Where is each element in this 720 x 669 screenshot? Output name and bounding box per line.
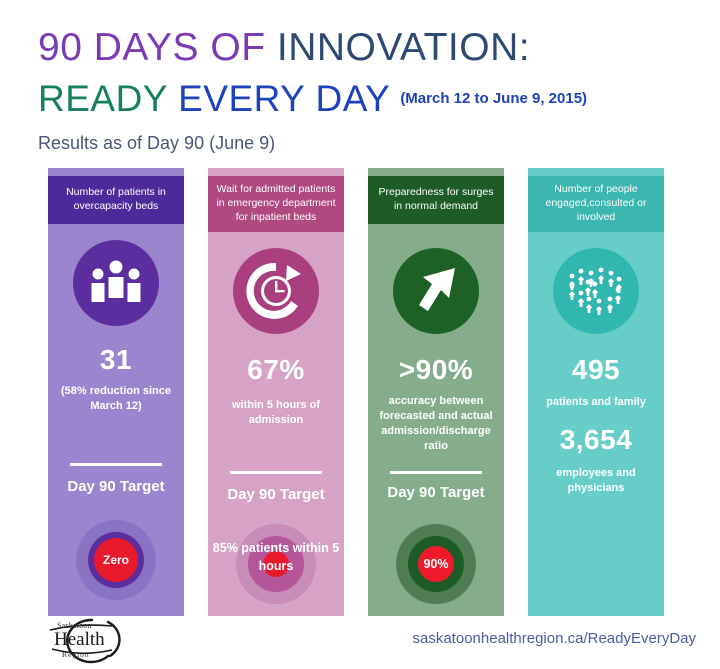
title-line-1: 90 DAYS OF INNOVATION: [38, 26, 530, 70]
target-rings: 90% [380, 508, 492, 616]
metric-value-label: accuracy between forecasted and actual a… [368, 394, 504, 453]
column-heading: Number of people engaged,consulted or in… [528, 176, 664, 232]
target-label: Day 90 Target [368, 484, 504, 501]
metric-value: 31 [48, 344, 184, 376]
target-label: Day 90 Target [208, 486, 344, 503]
metric-value-secondary: 3,654 [528, 424, 664, 456]
metric-column-ed-wait: Wait for admitted patients in emergency … [208, 168, 344, 616]
page-subtitle: Results as of Day 90 (June 9) [38, 133, 275, 154]
logo-line-region: Region [62, 650, 90, 659]
metric-value-label: (58% reduction since March 12) [48, 384, 184, 414]
target-value: 90% [418, 546, 454, 582]
target-value: Zero [94, 538, 138, 582]
metric-value: >90% [368, 354, 504, 386]
target-rings: Zero [60, 504, 172, 616]
target-label: Day 90 Target [48, 478, 184, 495]
metric-value: 495 [528, 354, 664, 386]
title-line-2: READY EVERY DAY(March 12 to June 9, 2015… [38, 78, 587, 120]
metric-value-label: patients and family [528, 395, 664, 410]
infographic-footer: Saskatoon Health Region saskatoonhealthr… [0, 612, 720, 665]
section-divider [390, 471, 482, 474]
metric-columns: Number of patients in overcapacity beds … [0, 168, 720, 618]
saskatoon-health-region-logo: Saskatoon Health Region [30, 616, 140, 664]
section-divider [230, 471, 322, 474]
clock-cycle-icon [233, 248, 319, 334]
column-heading: Wait for admitted patients in emergency … [208, 176, 344, 232]
website-url[interactable]: saskatoonhealthregion.ca/ReadyEveryDay [413, 630, 697, 647]
title-segment-ready: READY [38, 78, 178, 119]
column-heading: Preparedness for surges in normal demand [368, 176, 504, 224]
logo-line-health: Health [54, 629, 105, 651]
metric-value-label: within 5 hours of admission [208, 398, 344, 428]
section-divider [70, 463, 162, 466]
people-group-icon [553, 248, 639, 334]
metric-column-surge-preparedness: Preparedness for surges in normal demand… [368, 168, 504, 616]
infographic-header: 90 DAYS OF INNOVATION: READY EVERY DAY(M… [0, 0, 720, 165]
title-segment-everyday: EVERY DAY [178, 78, 390, 119]
metric-value-secondary-label: employees and physicians [528, 466, 664, 496]
arrow-up-right-icon [393, 248, 479, 334]
metric-column-people-engaged: Number of people engaged,consulted or in… [528, 168, 664, 616]
metric-column-overcapacity-beds: Number of patients in overcapacity beds … [48, 168, 184, 616]
metric-value: 67% [208, 354, 344, 386]
title-segment-innovation: INNOVATION: [277, 26, 530, 69]
date-range: (March 12 to June 9, 2015) [400, 90, 587, 107]
three-people-icon [73, 240, 159, 326]
title-segment-days: 90 DAYS OF [38, 26, 277, 69]
target-overlay-text: 85% patients within 5 hours [208, 540, 344, 575]
column-heading: Number of patients in overcapacity beds [48, 176, 184, 224]
